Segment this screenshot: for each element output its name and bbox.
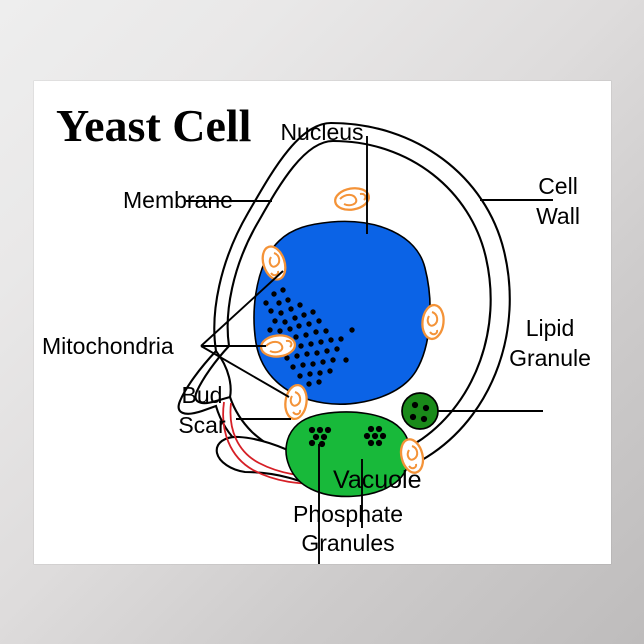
label-phosphate-granules-line1: Phosphate [293, 501, 403, 527]
poster-background: Yeast Cell [0, 0, 644, 644]
label-bud-scar-line2: Scar [178, 412, 226, 438]
label-lipid-granule-line1: Lipid [526, 315, 575, 341]
label-membrane: Membrane [123, 187, 233, 213]
yeast-cell-diagram: Yeast Cell [34, 81, 611, 564]
label-lipid-granule-line2: Granule [509, 345, 591, 371]
label-phosphate-granules-line2: Granules [301, 530, 394, 556]
page-title: Yeast Cell [56, 100, 251, 151]
lipid-granule-body [402, 393, 438, 429]
label-cell-wall-line2: Wall [536, 203, 580, 229]
label-cell-wall-line1: Cell [538, 173, 578, 199]
label-nucleus: Nucleus [280, 119, 363, 145]
poster-sheet: Yeast Cell [34, 81, 611, 564]
label-bud-scar-line1: Bud [182, 382, 223, 408]
label-mitochondria: Mitochondria [42, 333, 174, 359]
label-vacuole: Vacuole [333, 466, 422, 494]
